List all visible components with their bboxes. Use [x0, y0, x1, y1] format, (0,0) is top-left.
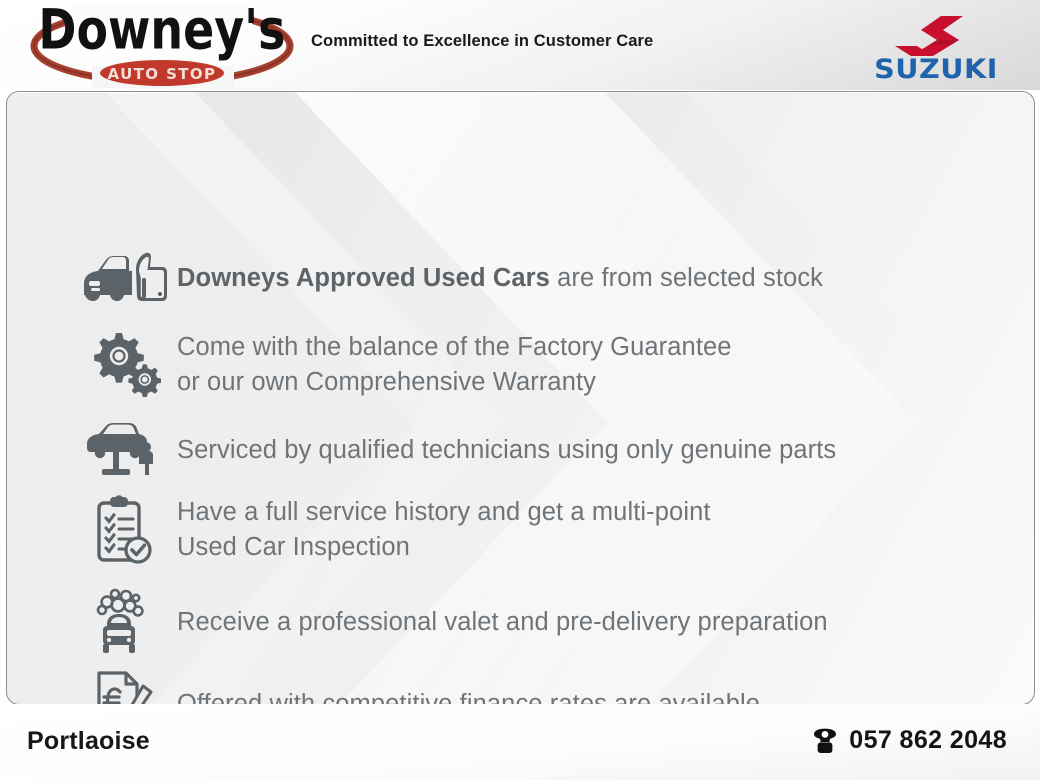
phone-number: 057 862 2048: [849, 726, 1007, 755]
page-header: Downey's AUTO STOP Committed to Excellen…: [0, 0, 1040, 90]
list-item: Come with the balance of the Factory Gua…: [79, 330, 732, 400]
telephone-icon: [811, 728, 839, 754]
branch-name: Portlaoise: [27, 727, 150, 756]
car-lift-mechanic-icon: [79, 422, 171, 478]
car-wash-icon: [79, 586, 171, 658]
list-item-text: Serviced by qualified technicians using …: [177, 433, 836, 468]
svg-text:Downey's: Downey's: [38, 4, 285, 61]
list-item-strong: Downeys Approved Used Cars: [177, 264, 550, 292]
clipboard-check-icon: [79, 494, 171, 566]
promo-page: Downey's AUTO STOP Committed to Excellen…: [0, 0, 1040, 780]
list-item-text: Have a full service history and get a mu…: [177, 495, 711, 565]
list-item-text: Downeys Approved Used Cars are from sele…: [177, 261, 823, 296]
list-item-text: Receive a professional valet and pre-del…: [177, 605, 828, 640]
page-footer: Portlaoise 057 862 2048: [0, 704, 1040, 780]
svg-text:SUZUKI: SUZUKI: [874, 53, 998, 82]
list-item: Have a full service history and get a mu…: [79, 494, 711, 566]
gears-icon: [79, 331, 171, 399]
list-item: Receive a professional valet and pre-del…: [79, 586, 828, 658]
downeys-logo-graphic: Downey's AUTO STOP: [26, 4, 298, 88]
svg-text:AUTO STOP: AUTO STOP: [108, 65, 217, 83]
euro-finance-document-icon: [79, 668, 171, 705]
benefits-panel: Downeys Approved Used Cars are from sele…: [6, 91, 1035, 705]
car-thumbs-up-icon: [79, 252, 171, 304]
list-item-rest: are from selected stock: [550, 264, 823, 292]
list-item-line: Have a full service history and get a mu…: [177, 495, 711, 530]
suzuki-logo-graphic: SUZUKI: [855, 12, 1017, 82]
suzuki-logo[interactable]: SUZUKI: [855, 12, 1017, 82]
phone-group[interactable]: 057 862 2048: [811, 726, 1007, 755]
header-tagline: Committed to Excellence in Customer Care: [311, 32, 653, 51]
list-item: Downeys Approved Used Cars are from sele…: [79, 252, 823, 304]
list-item: Offered with competitive finance rates a…: [79, 668, 760, 705]
benefits-list: Downeys Approved Used Cars are from sele…: [7, 92, 1034, 704]
list-item-text: Offered with competitive finance rates a…: [177, 687, 760, 706]
list-item-line: Come with the balance of the Factory Gua…: [177, 330, 732, 365]
list-item-line: Used Car Inspection: [177, 530, 711, 565]
list-item-text: Come with the balance of the Factory Gua…: [177, 330, 732, 400]
list-item-line: or our own Comprehensive Warranty: [177, 365, 732, 400]
list-item: Serviced by qualified technicians using …: [79, 422, 836, 478]
downeys-auto-stop-logo[interactable]: Downey's AUTO STOP: [26, 4, 298, 88]
